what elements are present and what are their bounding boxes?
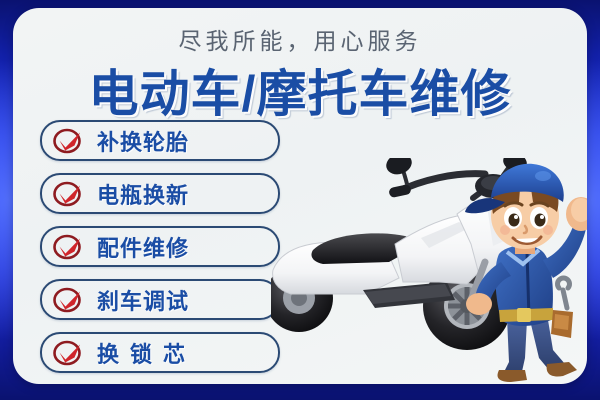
tagline: 尽我所能，用心服务 [13, 22, 587, 56]
check-circle-icon [53, 285, 83, 315]
feature-pill-1[interactable]: 电瓶换新 [40, 173, 280, 214]
promo-banner: 尽我所能，用心服务 电动车/摩托车维修 补换轮胎 [0, 0, 600, 400]
feature-pill-label: 刹车调试 [97, 284, 189, 316]
feature-list: 补换轮胎 电瓶换新 配件维修 [40, 120, 280, 384]
feature-pill-label: 配件维修 [97, 231, 189, 263]
feature-pill-3[interactable]: 刹车调试 [40, 279, 280, 320]
check-circle-icon [53, 232, 83, 262]
feature-pill-4[interactable]: 换锁芯 [40, 332, 280, 373]
feature-pill-2[interactable]: 配件维修 [40, 226, 280, 267]
check-circle-icon [53, 338, 83, 368]
artwork-illustration [271, 158, 587, 384]
banner-card: 尽我所能，用心服务 电动车/摩托车维修 补换轮胎 [13, 8, 587, 384]
feature-pill-label: 补换轮胎 [97, 125, 189, 157]
check-circle-icon [53, 126, 83, 156]
feature-pill-0[interactable]: 补换轮胎 [40, 120, 280, 161]
check-circle-icon [53, 179, 83, 209]
page-title: 电动车/摩托车维修 [13, 54, 587, 126]
feature-pill-label: 电瓶换新 [97, 178, 189, 210]
scooter-graphic [271, 158, 529, 350]
feature-pill-label: 换锁芯 [97, 337, 196, 369]
